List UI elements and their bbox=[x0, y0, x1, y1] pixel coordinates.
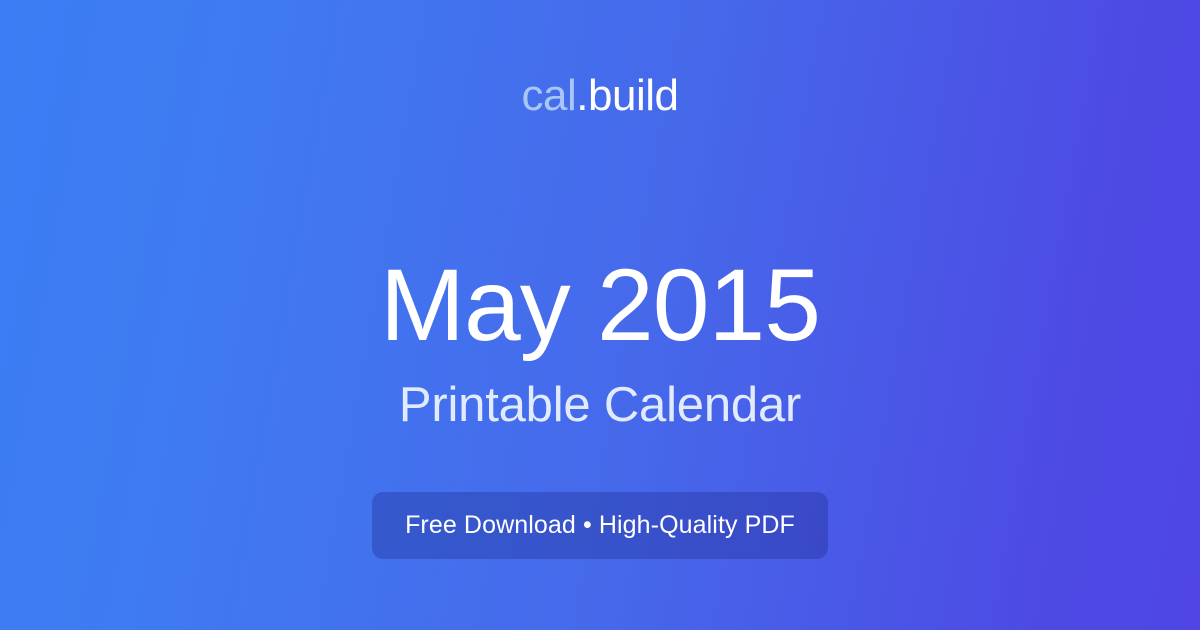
og-preview-card: cal.build May 2015 Printable Calendar Fr… bbox=[0, 0, 1200, 630]
download-badge[interactable]: Free Download • High-Quality PDF bbox=[372, 492, 828, 559]
page-subtitle: Printable Calendar bbox=[0, 381, 1200, 430]
brand-name-prefix: cal bbox=[522, 71, 577, 120]
brand-separator-dot: . bbox=[576, 71, 588, 120]
brand-logo: cal.build bbox=[0, 74, 1200, 118]
brand-name-suffix: build bbox=[588, 71, 678, 120]
badge-container: Free Download • High-Quality PDF bbox=[0, 492, 1200, 559]
page-title: May 2015 bbox=[0, 254, 1200, 356]
